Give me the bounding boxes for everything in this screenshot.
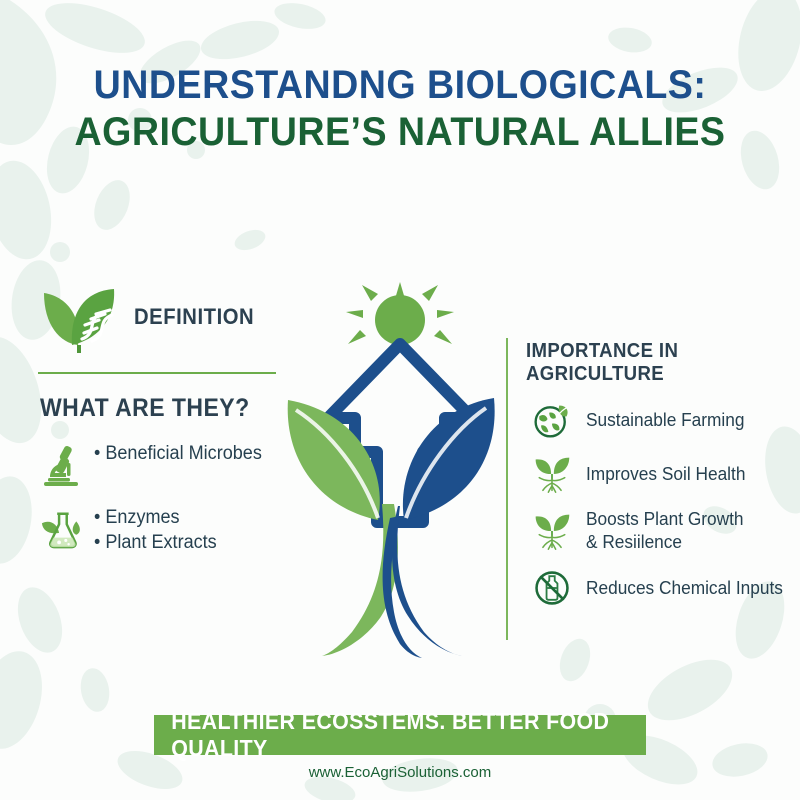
title-line-1: UNDERSTANDNG BIOLOGICALS: (24, 62, 776, 108)
importance-label: Improves Soil Health (586, 463, 745, 486)
bullet-text: Plant Extracts (94, 530, 217, 555)
blue-stem (392, 506, 462, 656)
leaf-dna-icon (36, 281, 124, 353)
list-item-text: Beneficial Microbes (94, 441, 262, 466)
list-item: Beneficial Microbes (40, 441, 286, 487)
footer-banner-text: HEALTHIER ECOSSTEMS. BETTER FOOD QUALITY (171, 708, 629, 762)
importance-section: IMPORTANCE IN AGRICULTURE Sustainable Fa… (506, 338, 796, 640)
sprout-roots-icon (532, 454, 572, 494)
blue-leaf-icon (403, 398, 495, 520)
bullet-text: Enzymes (94, 505, 217, 530)
definition-label: DEFINITION (134, 304, 254, 330)
sun-icon (346, 282, 454, 345)
importance-item: Boosts Plant Growth & Resiilence (532, 508, 796, 554)
flask-leaf-icon (40, 507, 82, 551)
importance-label: Boosts Plant Growth & Resiilence (586, 508, 744, 554)
infographic-poster: UNDERSTANDNG BIOLOGICALS: AGRICULTURE’S … (0, 0, 800, 800)
definition-header-row: DEFINITION (36, 278, 286, 356)
sprout-roots-icon (532, 511, 572, 551)
green-leaf-icon (288, 400, 380, 520)
globe-leaf-icon (532, 400, 572, 440)
no-chemicals-icon (532, 568, 572, 608)
footer-banner: HEALTHIER ECOSSTEMS. BETTER FOOD QUALITY (154, 715, 646, 755)
page-title: UNDERSTANDNG BIOLOGICALS: AGRICULTURE’S … (0, 62, 800, 156)
blue-stem-lower (383, 516, 422, 658)
definition-section: DEFINITION WHAT ARE THEY? Beneficial Mic… (36, 278, 286, 555)
section-divider (38, 372, 276, 374)
importance-label: Reduces Chemical Inputs (586, 577, 783, 600)
what-are-they-heading: WHAT ARE THEY? (40, 394, 266, 423)
plant-arrow-sun-logo (282, 282, 518, 660)
footer-url[interactable]: www.EcoAgriSolutions.com (0, 764, 800, 781)
importance-item: Sustainable Farming (532, 400, 796, 440)
title-line-2: AGRICULTURE’S NATURAL ALLIES (24, 108, 776, 156)
bullet-text: Beneficial Microbes (94, 441, 262, 466)
microscope-icon (40, 443, 82, 487)
list-item: Enzymes Plant Extracts (40, 505, 286, 555)
importance-item: Reduces Chemical Inputs (532, 568, 796, 608)
importance-label: Sustainable Farming (586, 409, 744, 432)
list-item-text: Enzymes Plant Extracts (94, 505, 217, 555)
importance-item: Improves Soil Health (532, 454, 796, 494)
importance-heading: IMPORTANCE IN AGRICULTURE (526, 340, 777, 386)
